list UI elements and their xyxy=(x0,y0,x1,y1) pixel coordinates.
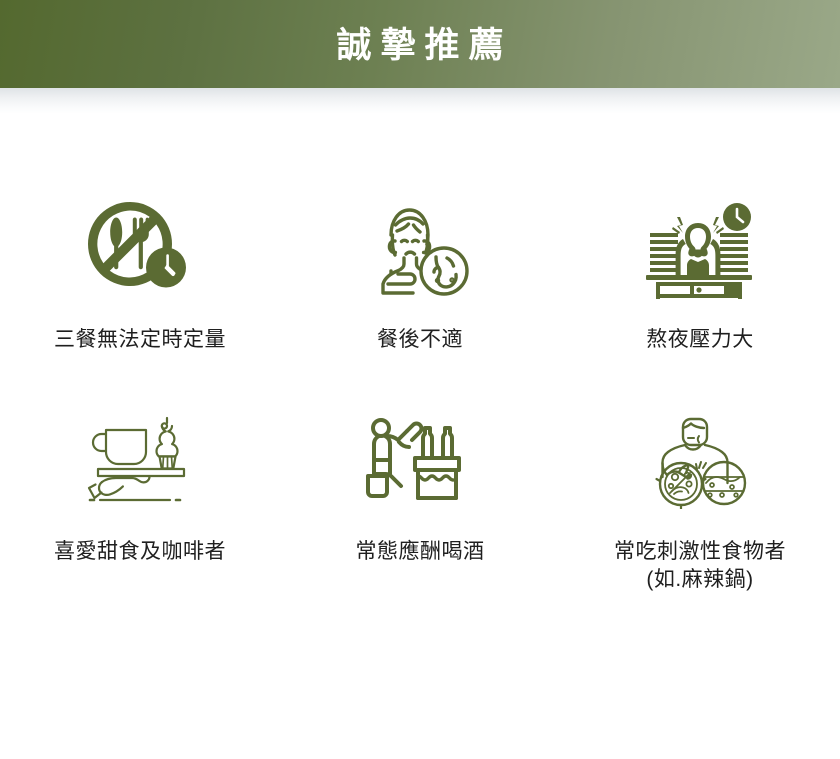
page-header-banner: 誠摯推薦 xyxy=(0,0,840,88)
grid-item-label: 常吃刺激性食物者 (如.麻辣鍋) xyxy=(614,538,786,595)
banner-shadow-gradient xyxy=(0,88,840,114)
grid-row-2: 喜愛甜食及咖啡者 xyxy=(0,370,840,620)
tray-coffee-cupcake-icon xyxy=(80,408,200,512)
unwell-person-stomach-icon xyxy=(360,198,480,302)
no-eating-clock-icon xyxy=(80,198,200,302)
person-hotpot-bowls-icon xyxy=(640,408,760,512)
grid-item-label: 餐後不適 xyxy=(377,326,463,354)
recommendation-grid: 三餐無法定時定量 xyxy=(0,114,840,620)
grid-row-1: 三餐無法定時定量 xyxy=(0,114,840,370)
grid-item-label: 常態應酬喝酒 xyxy=(356,538,485,566)
grid-item-label: 熬夜壓力大 xyxy=(646,326,754,354)
grid-item-label: 喜愛甜食及咖啡者 xyxy=(54,538,226,566)
page-title: 誠摯推薦 xyxy=(327,28,512,63)
grid-item-label: 三餐無法定時定量 xyxy=(54,326,226,354)
person-drinking-bottles-icon xyxy=(360,408,480,512)
grid-item-late-night-stress: 熬夜壓力大 xyxy=(560,114,840,370)
grid-item-irregular-meals: 三餐無法定時定量 xyxy=(0,114,280,370)
grid-item-post-meal-discomfort: 餐後不適 xyxy=(280,114,560,370)
grid-item-spicy-food: 常吃刺激性食物者 (如.麻辣鍋) xyxy=(560,370,840,620)
grid-item-sweets-and-coffee: 喜愛甜食及咖啡者 xyxy=(0,370,280,620)
stressed-desk-clock-icon xyxy=(640,198,760,302)
grid-item-social-drinking: 常態應酬喝酒 xyxy=(280,370,560,620)
